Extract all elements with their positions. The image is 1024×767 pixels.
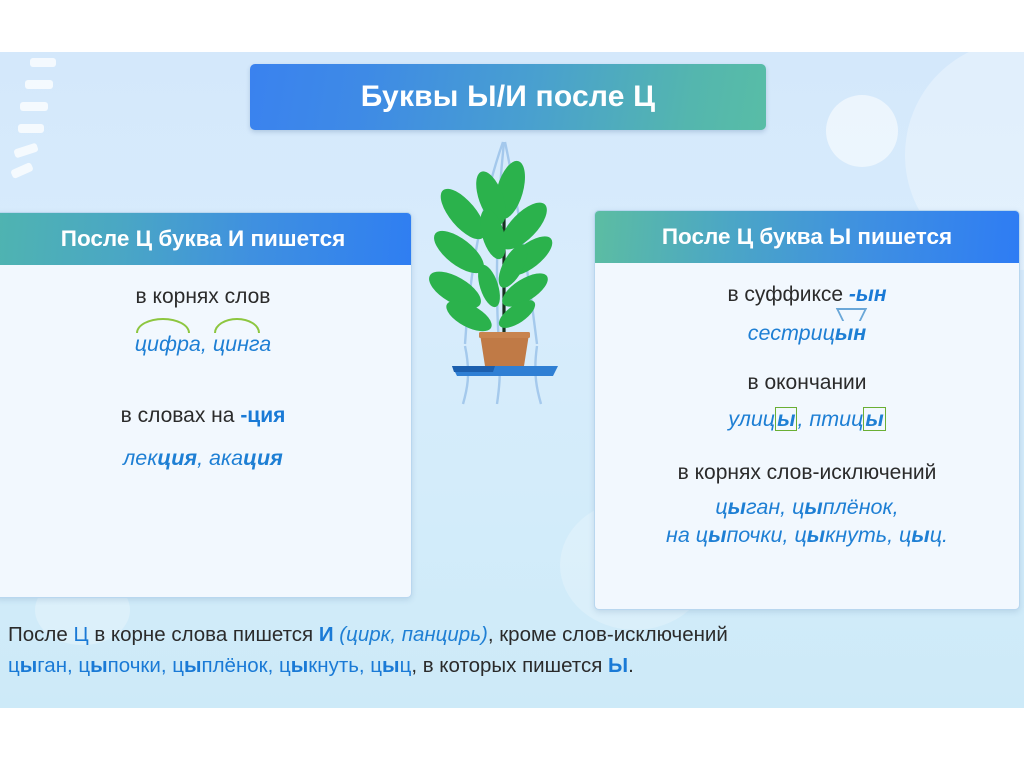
suffix-marker-yn: ын — [835, 319, 866, 347]
comma-1: , — [201, 332, 213, 356]
card-letter-y: После Ц буква Ы пишется в суффиксе -ын с… — [594, 210, 1020, 610]
rule-label-ciya-accent: -ция — [240, 404, 285, 427]
summary-l1-ts: Ц — [73, 623, 88, 646]
rule-label-suffix-plain: в суффиксе — [727, 283, 848, 306]
slide-title-banner: Буквы Ы/И после Ц — [250, 64, 766, 130]
page-title: Буквы Ы/И после Ц — [361, 80, 656, 114]
example-suffix: сестрицын — [609, 319, 1005, 347]
rule-block-ending: в окончании улицы, птицы — [609, 369, 1005, 433]
plant-shelf — [452, 366, 558, 376]
root-marked-word-cinga: цинга — [213, 327, 271, 358]
bottom-white-strip — [0, 708, 1024, 767]
card-left-body: в корнях слов цифра, цинга в словах на -… — [0, 265, 411, 597]
summary-l1-paren: (цирк, панцирь) — [339, 623, 488, 646]
example-word-cyc: цыц — [899, 523, 942, 547]
rule-label-ending: в окончании — [609, 369, 1005, 397]
example-roots: цифра, цинга — [9, 327, 397, 358]
comma-7: , — [887, 523, 899, 547]
comma-2: , — [197, 446, 209, 470]
summary-l2-p3: . — [628, 654, 634, 677]
rule-block-exceptions: в корнях слов-исключений цыган, цыплёнок… — [609, 459, 1005, 549]
comma-6: , — [783, 523, 795, 547]
ending-marker-pticy: ы — [863, 407, 885, 432]
example-word-cygan: цыган — [715, 495, 780, 519]
example-exceptions-line1: цыган, цыплёнок, — [609, 493, 1005, 521]
card-left-header: После Ц буква И пишется — [0, 213, 411, 265]
rule-block-ciya: в словах на -ция лекция, акация — [9, 402, 397, 472]
rule-label-ciya: в словах на -ция — [9, 402, 397, 430]
top-white-strip — [0, 0, 1024, 52]
example-word-ulicy: улицы — [728, 407, 797, 431]
summary-l1-letter: И — [319, 623, 334, 646]
root-marked-word-cifra: цифра — [135, 327, 201, 358]
summary-l2-letter: Ы — [608, 654, 628, 677]
rule-label-ciya-plain: в словах на — [121, 404, 241, 427]
summary-l1-p4: , кроме слов-исключений — [488, 623, 728, 646]
example-word-akaciya: акация — [209, 446, 283, 470]
summary-line-2: цыган, цыпочки, цыплёнок, цыкнуть, цыц, … — [8, 651, 1016, 682]
ending-marker-ulicy: ы — [775, 407, 797, 432]
card-right-body: в суффиксе -ын сестрицын в окончании ули… — [595, 263, 1019, 609]
example-word-cyplyonok: цыплёнок — [792, 495, 893, 519]
card-right-header: После Ц буква Ы пишется — [595, 211, 1019, 263]
rule-label-exceptions: в корнях слов-исключений — [609, 459, 1005, 487]
comma-4: , — [780, 495, 792, 519]
hanging-plant-illustration — [425, 138, 585, 408]
plant-pot — [479, 332, 530, 366]
slide-root: Буквы Ы/И после Ц После Ц буква И пишетс… — [0, 0, 1024, 767]
summary-l2-p2: , в которых пишется — [411, 654, 608, 677]
period-1: . — [942, 523, 948, 547]
plant-leaves — [425, 158, 558, 338]
example-ending: улицы, птицы — [609, 405, 1005, 433]
example-exceptions-line2: на цыпочки, цыкнуть, цыц. — [609, 521, 1005, 549]
example-word-na-cypochki: на цыпочки — [666, 523, 783, 547]
example-ciya: лекция, акация — [9, 444, 397, 472]
rule-block-suffix: в суффиксе -ын сестрицын — [609, 281, 1005, 347]
summary-l2-words: цыган, цыпочки, цыплёнок, цыкнуть, цыц — [8, 654, 411, 677]
rule-label-roots: в корнях слов — [9, 283, 397, 311]
example-word-cyknut: цыкнуть — [794, 523, 887, 547]
rule-label-suffix: в суффиксе -ын — [609, 281, 1005, 309]
summary-text: После Ц в корне слова пишется И (цирк, п… — [8, 620, 1016, 682]
example-word-lekciya: лекция — [123, 446, 197, 470]
comma-5: , — [893, 495, 899, 519]
card-letter-i: После Ц буква И пишется в корнях слов ци… — [0, 212, 412, 598]
summary-l1-p2: в корне слова пишется — [89, 623, 319, 646]
rule-block-roots: в корнях слов цифра, цинга — [9, 283, 397, 358]
summary-line-1: После Ц в корне слова пишется И (цирк, п… — [8, 620, 1016, 651]
rule-label-suffix-accent: -ын — [849, 283, 887, 306]
comma-3: , — [797, 407, 809, 431]
summary-l1-p1: После — [8, 623, 73, 646]
example-word-pticy: птицы — [809, 407, 885, 431]
example-word-sestricyn: сестрицын — [748, 321, 866, 345]
